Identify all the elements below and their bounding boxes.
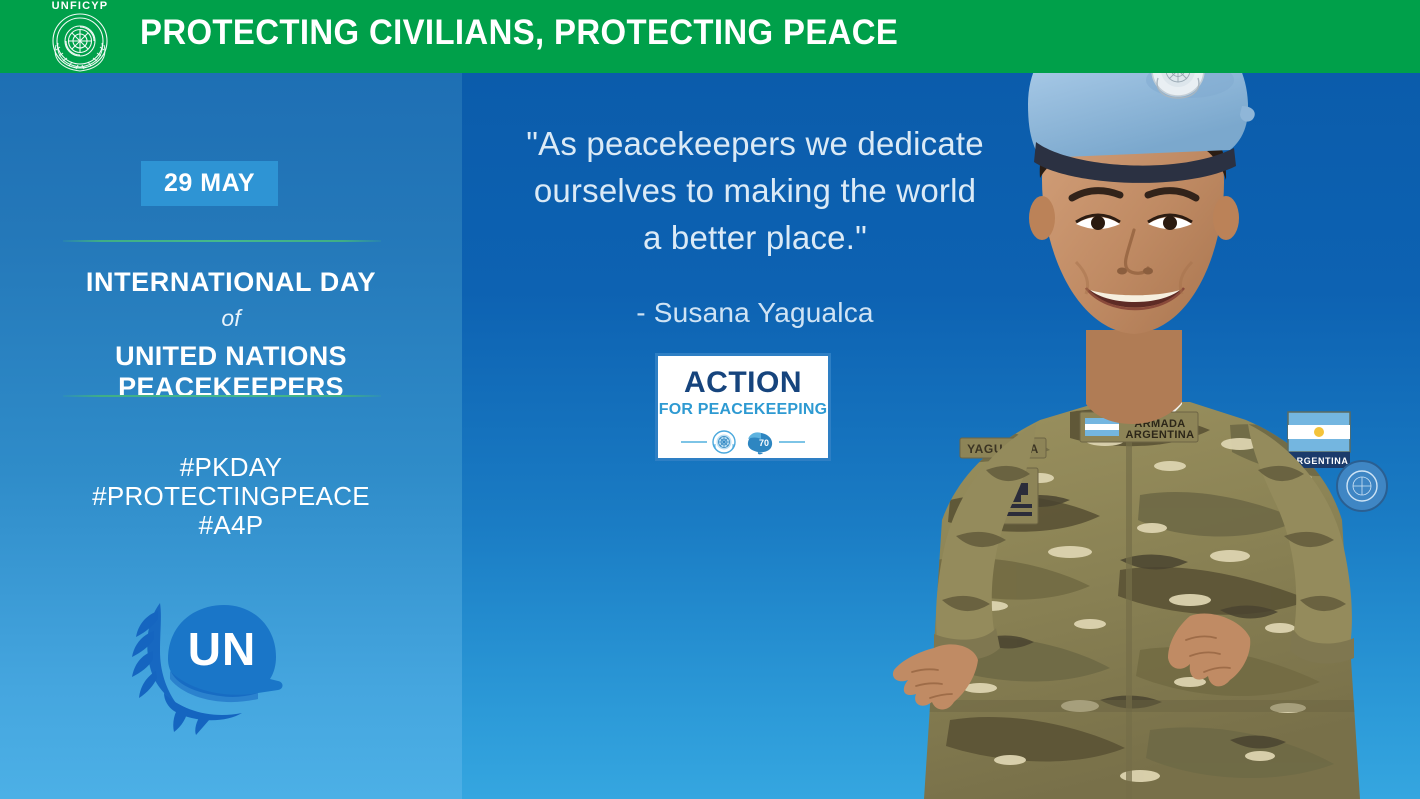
- a4p-rule-right: [779, 441, 805, 443]
- un-logo-label: UN: [188, 623, 256, 675]
- divider-bottom: [63, 395, 381, 397]
- un-shoulder-patch: [1337, 461, 1387, 511]
- unficyp-emblem: UNFICYP: [38, 0, 122, 73]
- a4p-rule-left: [681, 441, 707, 443]
- event-title-line-1: INTERNATIONAL DAY: [0, 267, 462, 298]
- unficyp-wordmark: UNFICYP: [52, 0, 109, 12]
- a4p-wordmark-subtitle: FOR PEACEKEEPING: [658, 402, 828, 418]
- svg-text:ARGENTINA: ARGENTINA: [1126, 429, 1195, 441]
- divider-top: [63, 240, 381, 242]
- a4p-wordmark-action: ACTION: [658, 368, 828, 398]
- left-column: 29 MAY INTERNATIONAL DAY of UNITED NATIO…: [0, 73, 462, 799]
- date-badge: 29 MAY: [141, 161, 278, 206]
- header-title: PROTECTING CIVILIANS, PROTECTING PEACE: [140, 13, 898, 53]
- un70-label: 70: [759, 438, 769, 448]
- un70-dove-emblem: 70: [745, 429, 775, 455]
- hashtag-list: #PKDAY #PROTECTINGPEACE #A4P: [0, 453, 462, 540]
- hashtag-item: #PROTECTINGPEACE: [0, 482, 462, 511]
- hashtag-item: #A4P: [0, 511, 462, 540]
- action-for-peacekeeping-logo: ACTION FOR PEACEKEEPING: [655, 353, 831, 461]
- header-bar: UNFICYP PROTECTING CIVILIANS, PROTECTING…: [0, 0, 1420, 73]
- un-peacekeeper-helmet-logo: UN: [118, 585, 304, 735]
- event-title-line-2: UNITED NATIONS PEACEKEEPERS: [0, 341, 462, 403]
- peacekeeper-photo: YAGUALCA ARMADA ARGENTINA ARGENTINA: [890, 0, 1410, 799]
- hashtag-item: #PKDAY: [0, 453, 462, 482]
- country-flag-patch: ARGENTINA: [1288, 412, 1350, 468]
- un-globe-emblem: [711, 429, 737, 455]
- event-title-connector: of: [0, 305, 462, 332]
- poster-canvas: UNFICYP PROTECTING CIVILIANS, PROTECTING…: [0, 0, 1420, 799]
- a4p-emblem-row: 70: [658, 426, 828, 458]
